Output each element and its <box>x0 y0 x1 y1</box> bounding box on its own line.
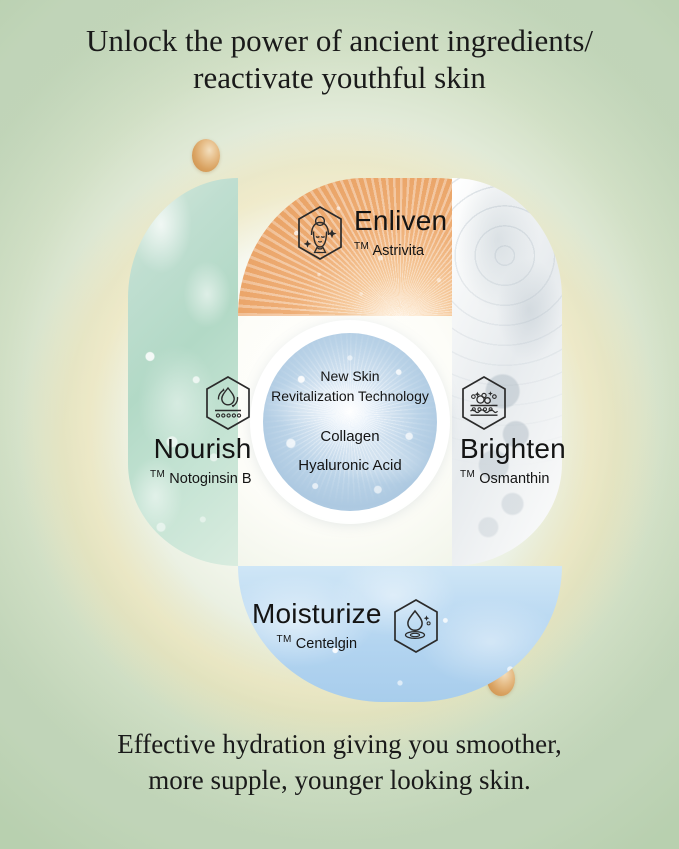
label-nourish-sub: TM Notoginsin B <box>150 470 252 486</box>
quadrant-brighten <box>452 178 562 566</box>
trademark-mark: TM <box>354 241 369 252</box>
label-brighten-ingredient: Osmanthin <box>479 471 549 487</box>
label-brighten-name: Brighten <box>460 435 566 463</box>
quadrant-brighten-fill <box>452 178 562 566</box>
water-droplet-ripple-icon <box>392 598 440 654</box>
quadrant-nourish <box>128 178 238 566</box>
core-ingredient-label: Collagen Hyaluronic Acid <box>298 426 401 477</box>
woman-face-sparkle-icon <box>296 205 344 261</box>
label-moisturize-ingredient: Centelgin <box>296 636 357 652</box>
label-moisturize: Moisturize TM Centelgin <box>252 598 440 654</box>
silver-bubble-texture <box>452 178 562 566</box>
caption-line-1: Effective hydration giving you smoother, <box>117 729 562 759</box>
green-gel-texture <box>128 178 238 566</box>
headline-line-2: reactivate youthful skin <box>0 59 679 96</box>
quadrant-nourish-fill <box>128 178 238 566</box>
label-enliven-text: Enliven TM Astrivita <box>354 207 447 258</box>
headline: Unlock the power of ancient ingredients/… <box>0 22 679 96</box>
label-brighten: Brighten TM Osmanthin <box>460 375 566 486</box>
core-ingredient-2: Hyaluronic Acid <box>298 455 401 476</box>
label-enliven: Enliven TM Astrivita <box>296 205 447 261</box>
trademark-mark: TM <box>150 469 165 480</box>
trademark-mark: TM <box>277 634 292 645</box>
core-text-block: New Skin Revitalization Technology Colla… <box>252 322 448 522</box>
core-technology-label: New Skin Revitalization Technology <box>271 367 429 406</box>
label-enliven-sub: TM Astrivita <box>354 242 447 258</box>
label-nourish-text: Nourish TM Notoginsin B <box>150 435 252 486</box>
label-enliven-name: Enliven <box>354 207 447 235</box>
infographic-poster: Unlock the power of ancient ingredients/… <box>0 0 679 849</box>
skin-layer-brighten-icon <box>460 375 508 431</box>
droplet-absorb-icon <box>204 375 252 431</box>
core-technology-circle: New Skin Revitalization Technology Colla… <box>252 322 448 522</box>
label-nourish-name: Nourish <box>150 435 252 463</box>
label-moisturize-text: Moisturize TM Centelgin <box>252 600 382 651</box>
label-brighten-text: Brighten TM Osmanthin <box>460 435 566 486</box>
label-nourish: Nourish TM Notoginsin B <box>150 375 252 486</box>
label-nourish-ingredient: Notoginsin B <box>169 471 251 487</box>
label-enliven-ingredient: Astrivita <box>372 243 424 259</box>
headline-line-1: Unlock the power of ancient ingredients/ <box>86 23 593 58</box>
label-brighten-sub: TM Osmanthin <box>460 470 566 486</box>
caption-line-2: more supple, younger looking skin. <box>0 763 679 799</box>
trademark-mark: TM <box>460 469 475 480</box>
core-tech-line-1: New Skin <box>271 367 429 386</box>
gold-dot-top <box>192 139 220 172</box>
core-ingredient-1: Collagen <box>298 426 401 447</box>
caption: Effective hydration giving you smoother,… <box>0 727 679 799</box>
core-tech-line-2: Revitalization Technology <box>271 387 429 406</box>
label-moisturize-sub: TM Centelgin <box>252 635 382 651</box>
label-moisturize-name: Moisturize <box>252 600 382 628</box>
